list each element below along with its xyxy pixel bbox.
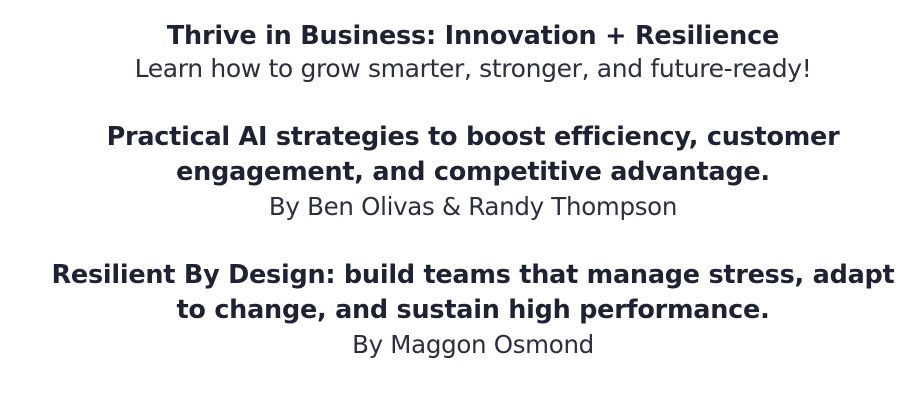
session-title-line: to change, and sustain high performance. xyxy=(45,293,901,328)
session-item: Practical AI strategies to boost efficie… xyxy=(45,120,901,224)
session-byline: By Maggon Osmond xyxy=(45,328,901,362)
session-title: Practical AI strategies to boost efficie… xyxy=(45,120,901,190)
event-sessions-page: Thrive in Business: Innovation + Resilie… xyxy=(0,0,901,405)
session-item: Resilient By Design: build teams that ma… xyxy=(45,258,901,362)
session-title: Resilient By Design: build teams that ma… xyxy=(45,258,901,328)
session-title-line: Practical AI strategies to boost efficie… xyxy=(45,120,901,155)
event-header: Thrive in Business: Innovation + Resilie… xyxy=(45,0,901,86)
event-title: Thrive in Business: Innovation + Resilie… xyxy=(45,21,901,52)
event-subtitle: Learn how to grow smarter, stronger, and… xyxy=(45,52,901,86)
session-byline: By Ben Olivas & Randy Thompson xyxy=(45,190,901,224)
session-title-line: engagement, and competitive advantage. xyxy=(45,155,901,190)
session-title-line: Resilient By Design: build teams that ma… xyxy=(45,258,901,293)
